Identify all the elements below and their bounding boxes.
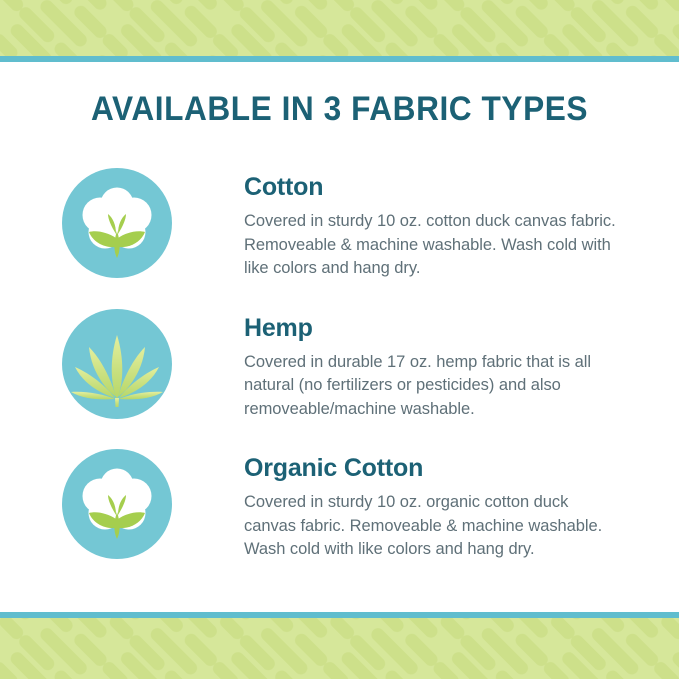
fabric-row: Cotton Covered in sturdy 10 oz. cotton d… [0,168,679,281]
fabric-description: Covered in sturdy 10 oz. organic cotton … [244,491,616,561]
fabric-description: Covered in durable 17 oz. hemp fabric th… [244,351,616,421]
fabric-list: Cotton Covered in sturdy 10 oz. cotton d… [0,168,679,590]
cotton-boll-glyph [62,449,172,559]
fabric-title: Organic Cotton [244,455,679,481]
bottom-decorative-banner [0,618,679,679]
fabric-text: Cotton Covered in sturdy 10 oz. cotton d… [172,168,679,281]
fabric-description: Covered in sturdy 10 oz. cotton duck can… [244,210,616,280]
page-title: AVAILABLE IN 3 FABRIC TYPES [24,90,655,129]
diagonal-stripe-pattern-icon [0,0,679,56]
fabric-title: Cotton [244,174,679,200]
fabric-text: Organic Cotton Covered in sturdy 10 oz. … [172,449,679,562]
hemp-leaf-icon [62,309,172,419]
hemp-leaf-glyph [62,309,172,419]
fabric-row: Organic Cotton Covered in sturdy 10 oz. … [0,449,679,562]
cotton-boll-icon [62,168,172,278]
infographic-page: AVAILABLE IN 3 FABRIC TYPES [0,0,679,679]
cotton-boll-glyph [62,168,172,278]
diagonal-stripe-pattern-icon [0,618,679,679]
fabric-title: Hemp [244,315,679,341]
top-decorative-banner [0,0,679,56]
fabric-row: Hemp Covered in durable 17 oz. hemp fabr… [0,309,679,422]
top-blue-divider [0,56,679,62]
cotton-boll-icon [62,449,172,559]
fabric-text: Hemp Covered in durable 17 oz. hemp fabr… [172,309,679,422]
